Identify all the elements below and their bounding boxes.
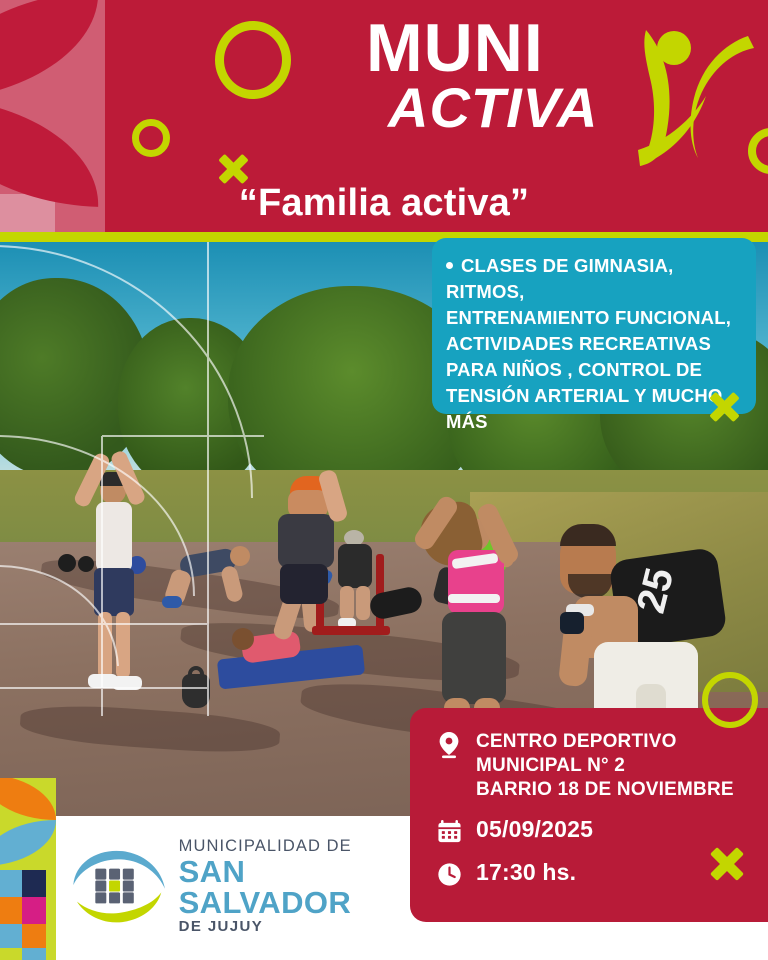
activities-box: CLASES DE GIMNASIA, RITMOS, ENTRENAMIENT… (432, 238, 756, 414)
bullet-dot-icon (446, 262, 453, 269)
mosaic-cell-1 (0, 870, 22, 897)
location-line-2: MUNICIPAL N° 2 (476, 754, 734, 778)
golden-spiral-overlay-icon (0, 242, 264, 716)
logo-line-3: DE JUJUY (179, 919, 406, 934)
clock-icon (434, 859, 464, 889)
activity-line-2: ACTIVIDADES RECREATIVAS (446, 331, 739, 357)
x-mark-info-icon (708, 845, 746, 883)
running-figure-icon (628, 18, 760, 168)
brand-line-activa: ACTIVA (388, 80, 666, 136)
activity-line-1: ENTRENAMIENTO FUNCIONAL, (446, 305, 739, 331)
mosaic-cell-2 (22, 870, 46, 897)
info-date-value: 05/09/2025 (476, 816, 593, 842)
mosaic-leaf-orange (0, 778, 56, 820)
location-pin-icon (434, 730, 464, 760)
mosaic-cell-8 (22, 948, 46, 960)
mosaic-cell-4 (22, 897, 46, 924)
header-banner: MUNI ACTIVA “Familia activa” (0, 0, 768, 232)
circle-outline-icon (215, 21, 291, 99)
info-row-date: 05/09/2025 (434, 816, 752, 846)
mosaic-cell-6 (22, 924, 46, 948)
municipality-grid-swoosh-icon (66, 841, 169, 931)
brand-line-muni: MUNI (366, 14, 666, 82)
logo-line-1: MUNICIPALIDAD DE (179, 838, 406, 855)
location-line-3: BARRIO 18 DE NOVIEMBRE (476, 778, 734, 802)
color-mosaic-decor (0, 778, 56, 960)
person-orange-cap (272, 476, 368, 608)
municipality-logo: MUNICIPALIDAD DE SAN SALVADOR DE JUJUY (66, 838, 406, 934)
calendar-icon (434, 816, 464, 846)
brand-wordmark: MUNI ACTIVA (366, 14, 666, 136)
mosaic-cell-5 (0, 924, 22, 948)
info-row-time: 17:30 hs. (434, 859, 752, 889)
activity-line-4: TENSIÓN ARTERIAL Y MUCHO (446, 383, 739, 409)
x-mark-cyan-icon (706, 390, 742, 426)
mosaic-cell-3 (0, 897, 22, 924)
info-location-text: CENTRO DEPORTIVO MUNICIPAL N° 2 BARRIO 1… (476, 730, 734, 802)
activity-line-0-text: CLASES DE GIMNASIA, RITMOS, (446, 255, 673, 302)
mosaic-cell-7 (0, 948, 22, 960)
logo-line-2: SAN SALVADOR (179, 856, 406, 918)
municipality-logo-text: MUNICIPALIDAD DE SAN SALVADOR DE JUJUY (179, 838, 406, 934)
activity-line-3: PARA NIÑOS , CONTROL DE (446, 357, 739, 383)
mosaic-leaf-blue (0, 820, 56, 866)
poster-root: MUNI ACTIVA “Familia activa” (0, 0, 768, 960)
info-row-location: CENTRO DEPORTIVO MUNICIPAL N° 2 BARRIO 1… (434, 730, 752, 802)
circle-outline-photo-icon (702, 672, 758, 728)
location-line-1: CENTRO DEPORTIVO (476, 730, 734, 754)
x-mark-icon (216, 152, 250, 186)
event-info-panel: CENTRO DEPORTIVO MUNICIPAL N° 2 BARRIO 1… (410, 708, 768, 922)
activity-line-5: MÁS (446, 409, 739, 435)
activity-line-0: CLASES DE GIMNASIA, RITMOS, (446, 253, 739, 305)
info-time-value: 17:30 hs. (476, 859, 576, 885)
circle-outline-small-icon (132, 119, 170, 157)
page-title-slogan: “Familia activa” (0, 182, 768, 225)
